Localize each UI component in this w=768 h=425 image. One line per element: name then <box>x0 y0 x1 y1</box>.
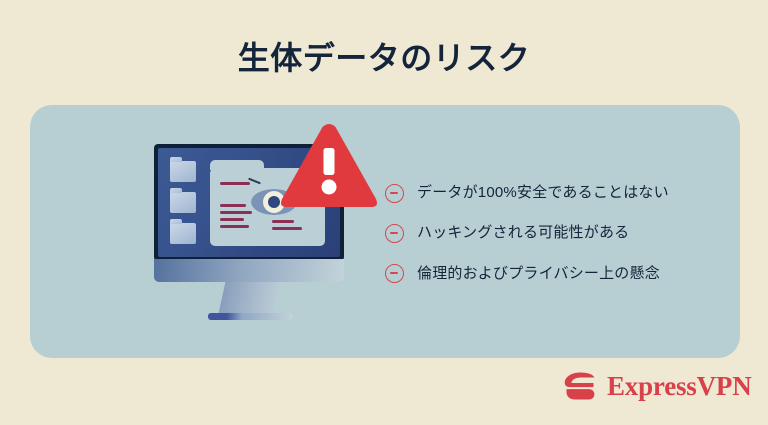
monitor-bezel <box>154 259 344 282</box>
list-item-label: ハッキングされる可能性がある <box>417 223 629 243</box>
document-text-line <box>220 204 246 207</box>
list-item-label: 倫理的およびプライバシー上の懸念 <box>417 264 660 284</box>
folder-icon <box>170 161 196 182</box>
expressvpn-mark-icon <box>562 368 598 404</box>
list-item: ハッキングされる可能性がある <box>385 223 715 243</box>
minus-circle-icon <box>385 264 404 283</box>
expressvpn-wordmark: ExpressVPN <box>607 371 752 402</box>
list-item: 倫理的およびプライバシー上の懸念 <box>385 264 715 284</box>
risk-bullet-list: データが100%安全であることはない ハッキングされる可能性がある 倫理的および… <box>385 183 715 284</box>
content-card: データが100%安全であることはない ハッキングされる可能性がある 倫理的および… <box>30 105 740 358</box>
document-text-line <box>220 211 252 214</box>
document-text-line <box>220 182 250 185</box>
minus-circle-icon <box>385 184 404 203</box>
monitor-stand-neck <box>218 282 280 316</box>
page-title: 生体データのリスク <box>0 38 768 78</box>
folder-icon <box>170 223 196 244</box>
document-text-line <box>272 227 302 230</box>
folder-icon <box>170 192 196 213</box>
document-stroke <box>248 178 261 185</box>
expressvpn-logo: ExpressVPN <box>562 368 752 404</box>
document-text-line <box>272 220 294 223</box>
monitor-stand-base <box>208 313 293 320</box>
warning-triangle-icon <box>279 122 379 210</box>
list-item: データが100%安全であることはない <box>385 183 715 203</box>
list-item-label: データが100%安全であることはない <box>417 183 669 203</box>
document-text-line <box>220 225 249 228</box>
minus-circle-icon <box>385 224 404 243</box>
document-text-line <box>220 218 244 221</box>
biometric-risk-illustration <box>130 120 380 335</box>
